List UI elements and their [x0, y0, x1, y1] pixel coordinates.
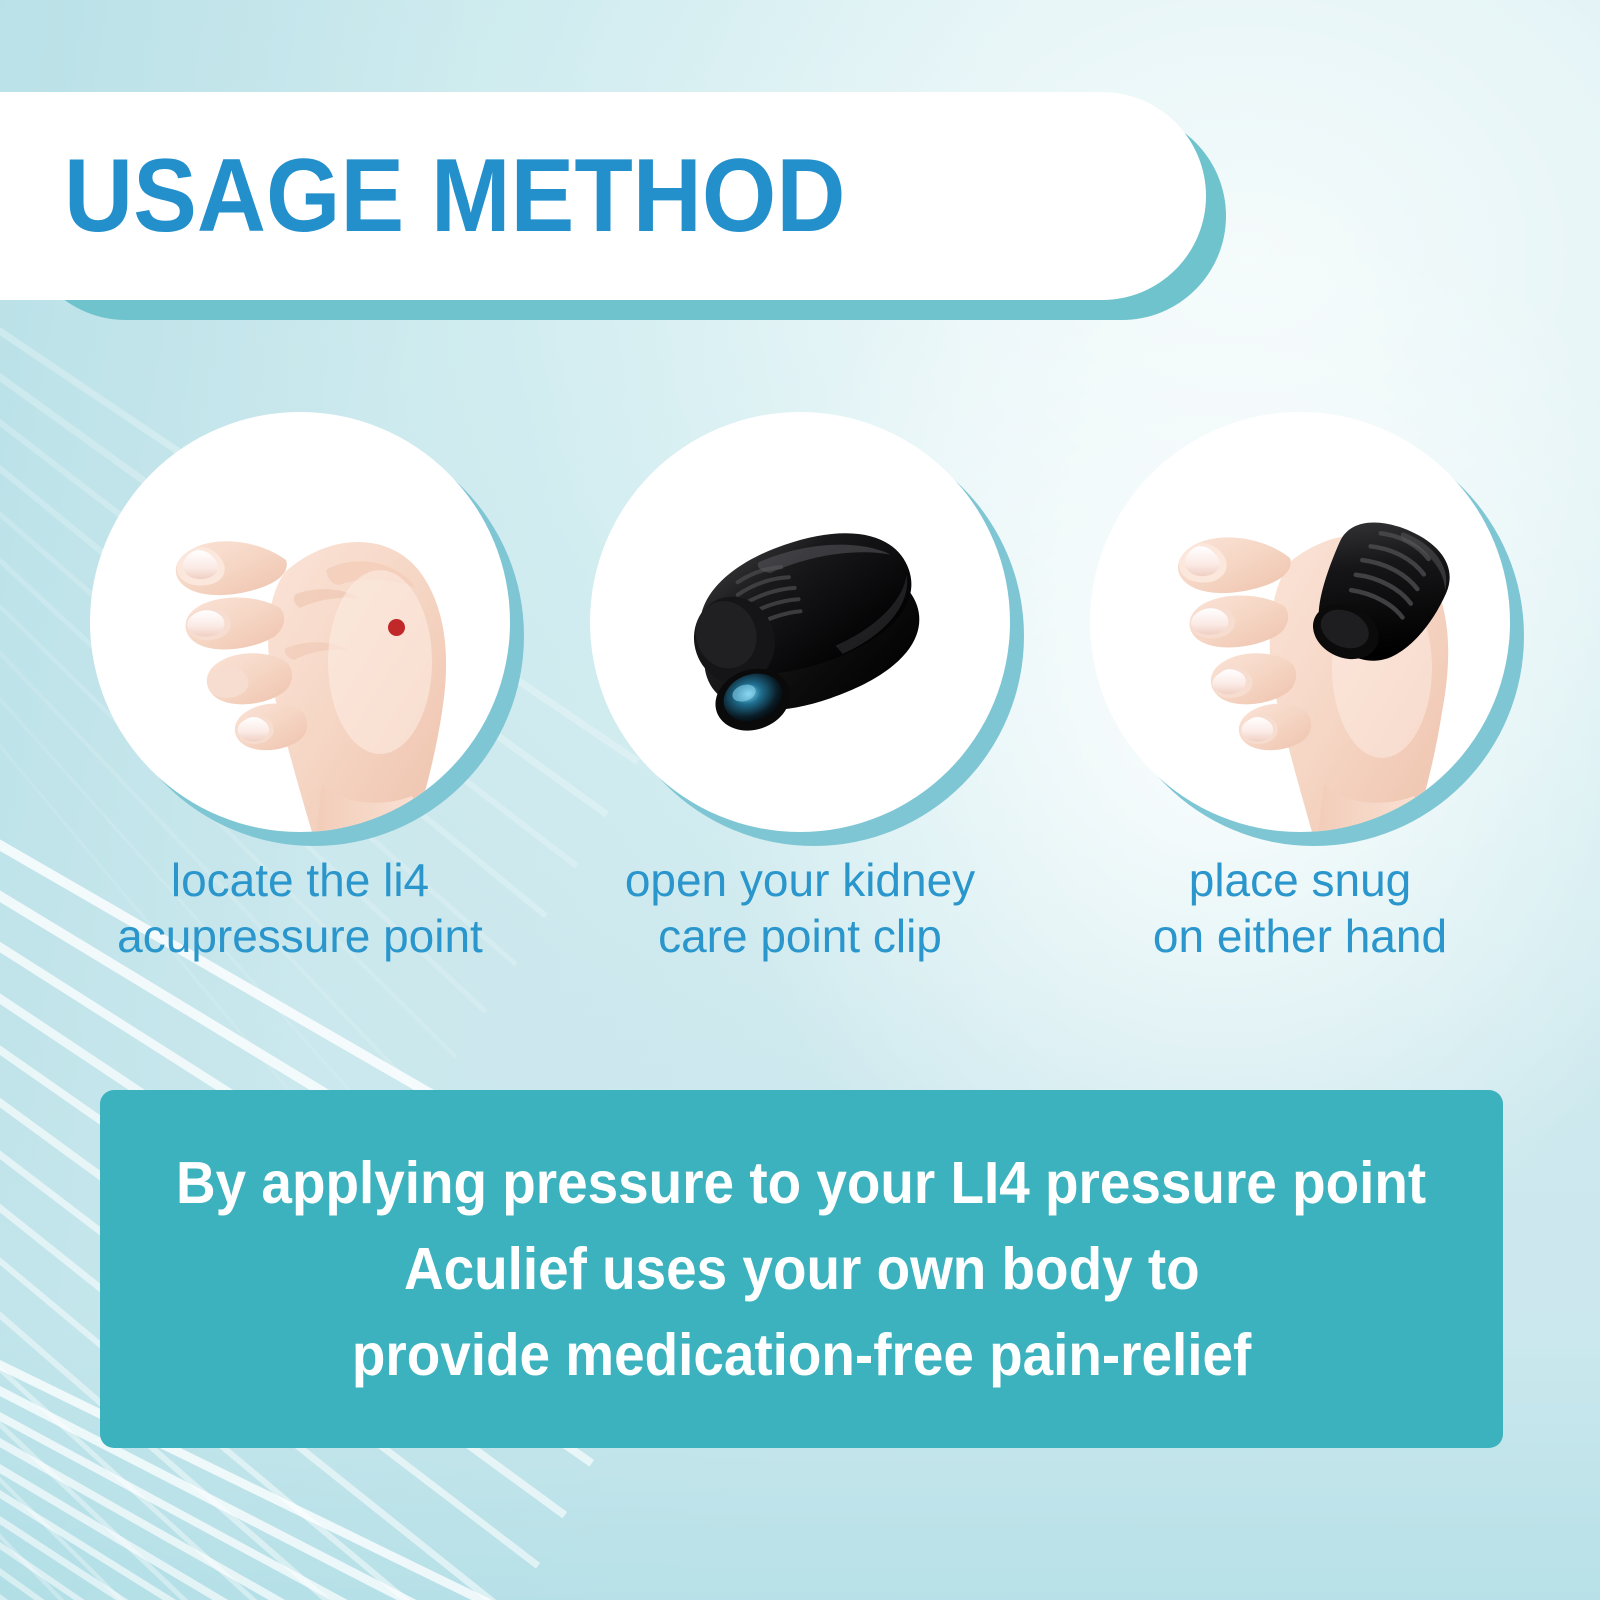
caption-line-2: acupressure point — [70, 908, 530, 964]
step-open-clip — [590, 412, 1010, 832]
usage-method-infographic: USAGE METHOD — [0, 0, 1600, 1600]
step-captions: locate the li4 acupressure point open yo… — [0, 852, 1600, 982]
page-title: USAGE METHOD — [64, 144, 845, 248]
hand-with-li4-dot-photo — [90, 412, 510, 832]
caption-line-1: open your kidney — [570, 852, 1030, 908]
caption-line-1: place snug — [1070, 852, 1530, 908]
promo-line-3: provide medication-free pain-relief — [352, 1312, 1251, 1398]
caption-locate-point: locate the li4 acupressure point — [70, 852, 530, 964]
black-kidney-care-point-clip-photo — [590, 412, 1010, 832]
promo-panel: By applying pressure to your LI4 pressur… — [100, 1090, 1503, 1448]
step-place-clip — [1090, 412, 1510, 832]
step-image-locate-point — [90, 412, 510, 832]
header-banner: USAGE METHOD — [0, 92, 1206, 300]
caption-open-clip: open your kidney care point clip — [570, 852, 1030, 964]
step-locate-point — [90, 412, 510, 832]
li4-acupressure-dot-marker — [388, 619, 405, 636]
caption-line-2: on either hand — [1070, 908, 1530, 964]
caption-line-2: care point clip — [570, 908, 1030, 964]
promo-line-1: By applying pressure to your LI4 pressur… — [176, 1140, 1426, 1226]
step-image-open-clip — [590, 412, 1010, 832]
steps-row — [0, 412, 1600, 842]
step-image-place-clip — [1090, 412, 1510, 832]
caption-place-clip: place snug on either hand — [1070, 852, 1530, 964]
promo-line-2: Aculief uses your own body to — [404, 1226, 1200, 1312]
hand-wearing-clip-photo — [1090, 412, 1510, 832]
caption-line-1: locate the li4 — [70, 852, 530, 908]
